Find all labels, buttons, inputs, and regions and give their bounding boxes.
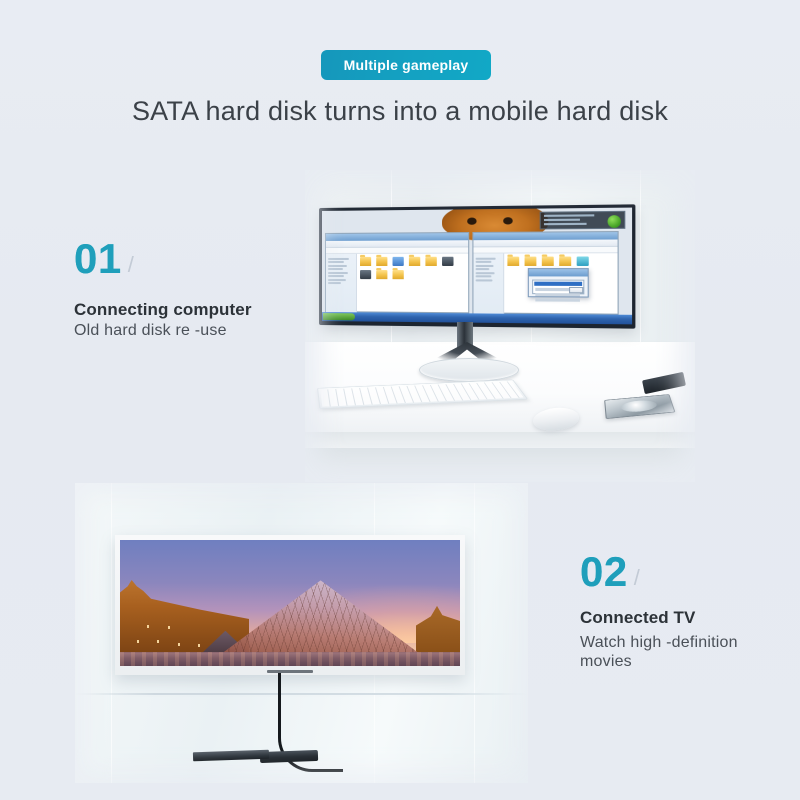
folder-icon[interactable]	[542, 257, 554, 266]
status-indicator-icon	[608, 215, 621, 228]
explorer-window-left[interactable]	[325, 232, 469, 314]
desk-underside	[305, 448, 695, 482]
navigation-pane[interactable]	[473, 254, 504, 315]
window-body	[326, 254, 468, 315]
nav-entry	[328, 261, 344, 263]
section-01-subtitle: Old hard disk re -use	[74, 322, 227, 341]
desk-monitor-photo	[305, 170, 695, 482]
section-02-subtitle: Watch high -definition movies	[580, 634, 792, 672]
navigation-pane[interactable]	[326, 254, 357, 314]
nav-entry	[476, 275, 492, 277]
palace-window	[157, 640, 159, 643]
dialog-row	[535, 298, 580, 301]
section-01-title: Connecting computer	[74, 300, 252, 320]
palace-window	[168, 626, 170, 629]
wallpaper-dog-eye	[503, 217, 513, 224]
folder-icon[interactable]	[376, 257, 387, 266]
dialog-row	[535, 293, 580, 296]
file-icon[interactable]	[442, 257, 453, 266]
wall-seam	[640, 170, 641, 351]
section-01-slash: /	[128, 254, 135, 276]
monitor-screen	[322, 208, 632, 325]
folder-icon[interactable]	[508, 257, 520, 266]
wall-tv-photo	[75, 483, 528, 783]
windows-taskbar[interactable]	[322, 312, 632, 324]
section-02-title: Connected TV	[580, 608, 696, 628]
start-button[interactable]	[323, 313, 355, 321]
nav-entry	[328, 268, 343, 270]
folder-icon[interactable]	[560, 257, 572, 266]
gadget-text-line	[544, 219, 581, 221]
ultrawide-television	[115, 535, 465, 675]
folder-icon[interactable]	[376, 270, 387, 279]
file-icon[interactable]	[360, 270, 371, 279]
nav-entry	[328, 272, 348, 274]
desktop-gadget-panel	[539, 211, 625, 229]
nav-entry	[328, 257, 349, 259]
nav-entry	[328, 275, 344, 277]
product-marketing-page: Multiple gameplay SATA hard disk turns i…	[0, 0, 800, 800]
plaza-reflections	[120, 652, 460, 666]
section-01-number: 01 /	[74, 238, 134, 280]
section-02-slash: /	[634, 567, 641, 589]
folder-icon[interactable]	[392, 270, 403, 279]
folder-icon[interactable]	[425, 257, 436, 266]
nav-entry	[476, 279, 493, 281]
section-02-number: 02 /	[580, 551, 640, 593]
file-icon[interactable]	[577, 256, 589, 265]
nav-entry	[476, 264, 494, 266]
gadget-text-line	[544, 215, 594, 218]
section-02-number-value: 02	[580, 551, 628, 593]
folder-icon[interactable]	[525, 257, 537, 266]
file-icon[interactable]	[392, 257, 403, 266]
palace-window	[178, 643, 180, 646]
hard-disk-platter	[620, 399, 659, 413]
nav-entry	[328, 282, 341, 284]
wallpaper-dog-eye	[467, 217, 476, 224]
gadget-text-line	[544, 223, 587, 225]
multiple-gameplay-badge: Multiple gameplay	[321, 50, 491, 80]
dialog-selected-row[interactable]	[534, 282, 582, 286]
file-list-pane[interactable]	[357, 254, 469, 315]
dialog-title-bar[interactable]	[528, 269, 587, 276]
nav-entry	[476, 272, 495, 274]
nav-entry	[328, 279, 346, 281]
section-01-number-value: 01	[74, 238, 122, 280]
wall-seam	[111, 483, 112, 783]
page-headline: SATA hard disk turns into a mobile hard …	[0, 96, 800, 127]
palace-window	[147, 625, 149, 628]
palace-window	[137, 640, 139, 643]
nav-entry	[476, 261, 492, 263]
copy-progress-dialog[interactable]	[527, 268, 588, 297]
nav-entry	[476, 257, 496, 259]
palace-window	[198, 644, 200, 647]
desk-edge	[305, 432, 695, 448]
wall-seam	[474, 483, 475, 783]
folder-icon[interactable]	[408, 257, 419, 266]
tv-screen	[120, 540, 460, 666]
folder-icon[interactable]	[360, 257, 371, 266]
nav-entry	[328, 264, 347, 266]
explorer-window-right[interactable]	[472, 231, 619, 315]
monitor-base	[419, 358, 519, 382]
nav-entry	[476, 268, 490, 270]
ultrawide-monitor	[319, 204, 635, 328]
dialog-ok-button[interactable]	[569, 287, 583, 293]
